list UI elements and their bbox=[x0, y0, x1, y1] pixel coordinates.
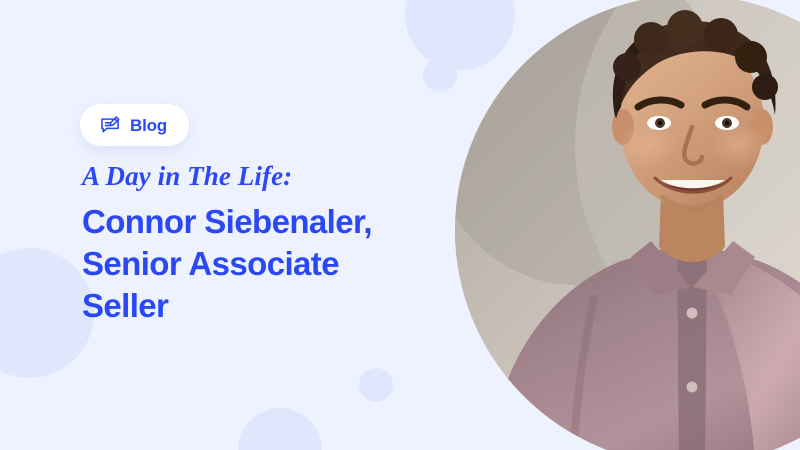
blog-category-badge[interactable]: Blog bbox=[80, 104, 189, 146]
hero-content: Blog A Day in The Life: Connor Siebenale… bbox=[82, 0, 462, 450]
headline-line-2: Senior Associate bbox=[82, 243, 454, 285]
headline-line-3: Seller bbox=[82, 285, 454, 327]
blog-hero-card: Blog A Day in The Life: Connor Siebenale… bbox=[0, 0, 800, 450]
blog-badge-label: Blog bbox=[130, 117, 167, 134]
hero-eyebrow: A Day in The Life: bbox=[82, 163, 292, 190]
speech-bubble-pencil-icon bbox=[99, 114, 121, 136]
portrait-photo bbox=[455, 0, 800, 450]
headline-line-1: Connor Siebenaler, bbox=[82, 201, 454, 243]
portrait-illustration bbox=[455, 0, 800, 450]
page-title: Connor Siebenaler, Senior Associate Sell… bbox=[82, 201, 454, 327]
circle-left-large bbox=[0, 248, 94, 378]
